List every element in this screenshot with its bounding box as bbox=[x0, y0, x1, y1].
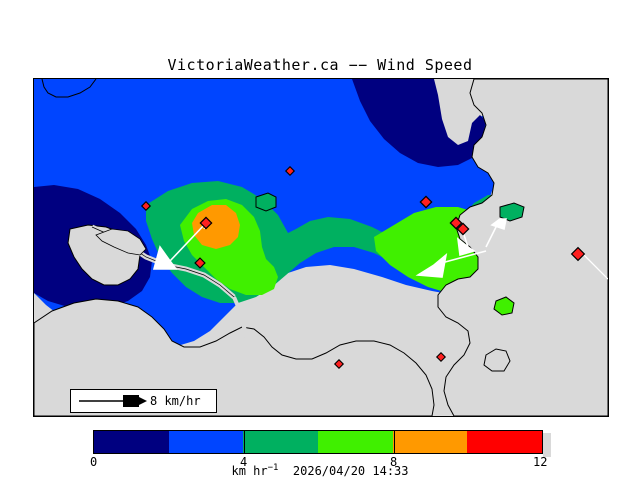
wind-speed-contour-map bbox=[34, 79, 608, 416]
colorbar-timestamp: 2026/04/20 14:33 bbox=[293, 464, 409, 478]
colorbar bbox=[93, 430, 543, 454]
scale-legend-label: 8 km/hr bbox=[150, 394, 201, 408]
colorbar-units-and-timestamp: km hr−1 2026/04/20 14:33 bbox=[0, 463, 640, 478]
colorbar-band-8-10 bbox=[393, 431, 468, 453]
colorbar-separator-4 bbox=[244, 431, 245, 453]
colorbar-band-2-4 bbox=[169, 431, 244, 453]
wind-barb-icon bbox=[77, 393, 149, 409]
colorbar-units-exponent: −1 bbox=[268, 463, 279, 473]
colorbar-bands bbox=[93, 430, 543, 454]
colorbar-band-10-12 bbox=[467, 431, 542, 453]
map-plot-area[interactable]: 8 km/hr bbox=[33, 78, 609, 417]
wind-barb-scale-legend: 8 km/hr bbox=[70, 389, 217, 413]
colorbar-shadow bbox=[543, 433, 551, 457]
colorbar-timestamp-spacer bbox=[278, 464, 292, 478]
colorbar-band-0-2 bbox=[94, 431, 169, 453]
colorbar-separator-8 bbox=[394, 431, 395, 453]
colorbar-units-label: km hr bbox=[231, 464, 267, 478]
wind-speed-map-page: VictoriaWeather.ca −− Wind Speed bbox=[0, 0, 640, 480]
colorbar-band-6-8 bbox=[318, 431, 393, 453]
lagoon-center bbox=[256, 193, 276, 211]
colorbar-band-4-6 bbox=[243, 431, 318, 453]
page-title: VictoriaWeather.ca −− Wind Speed bbox=[0, 56, 640, 74]
